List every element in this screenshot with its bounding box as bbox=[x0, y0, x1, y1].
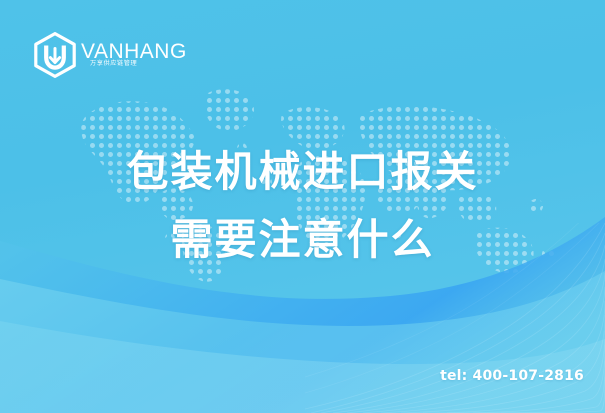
headline: 包装机械进口报关 需要注意什么 bbox=[0, 145, 605, 267]
headline-line-2: 需要注意什么 bbox=[0, 213, 605, 267]
brand-subtext: 万享供应链管理 bbox=[90, 60, 137, 66]
promo-banner: VANHANG 万享供应链管理 包装机械进口报关 需要注意什么 tel: 400… bbox=[0, 0, 605, 413]
headline-line-1: 包装机械进口报关 bbox=[0, 145, 605, 199]
brand-logo[interactable]: VANHANG 万享供应链管理 bbox=[33, 31, 185, 79]
dotted-world-map bbox=[70, 78, 570, 286]
swirl-line-pattern bbox=[305, 223, 605, 413]
contact-phone[interactable]: tel: 400-107-2816 bbox=[440, 368, 584, 384]
vanhang-hexagon-icon bbox=[33, 32, 77, 78]
brand-wordmark-group: VANHANG 万享供应链管理 bbox=[81, 32, 185, 78]
